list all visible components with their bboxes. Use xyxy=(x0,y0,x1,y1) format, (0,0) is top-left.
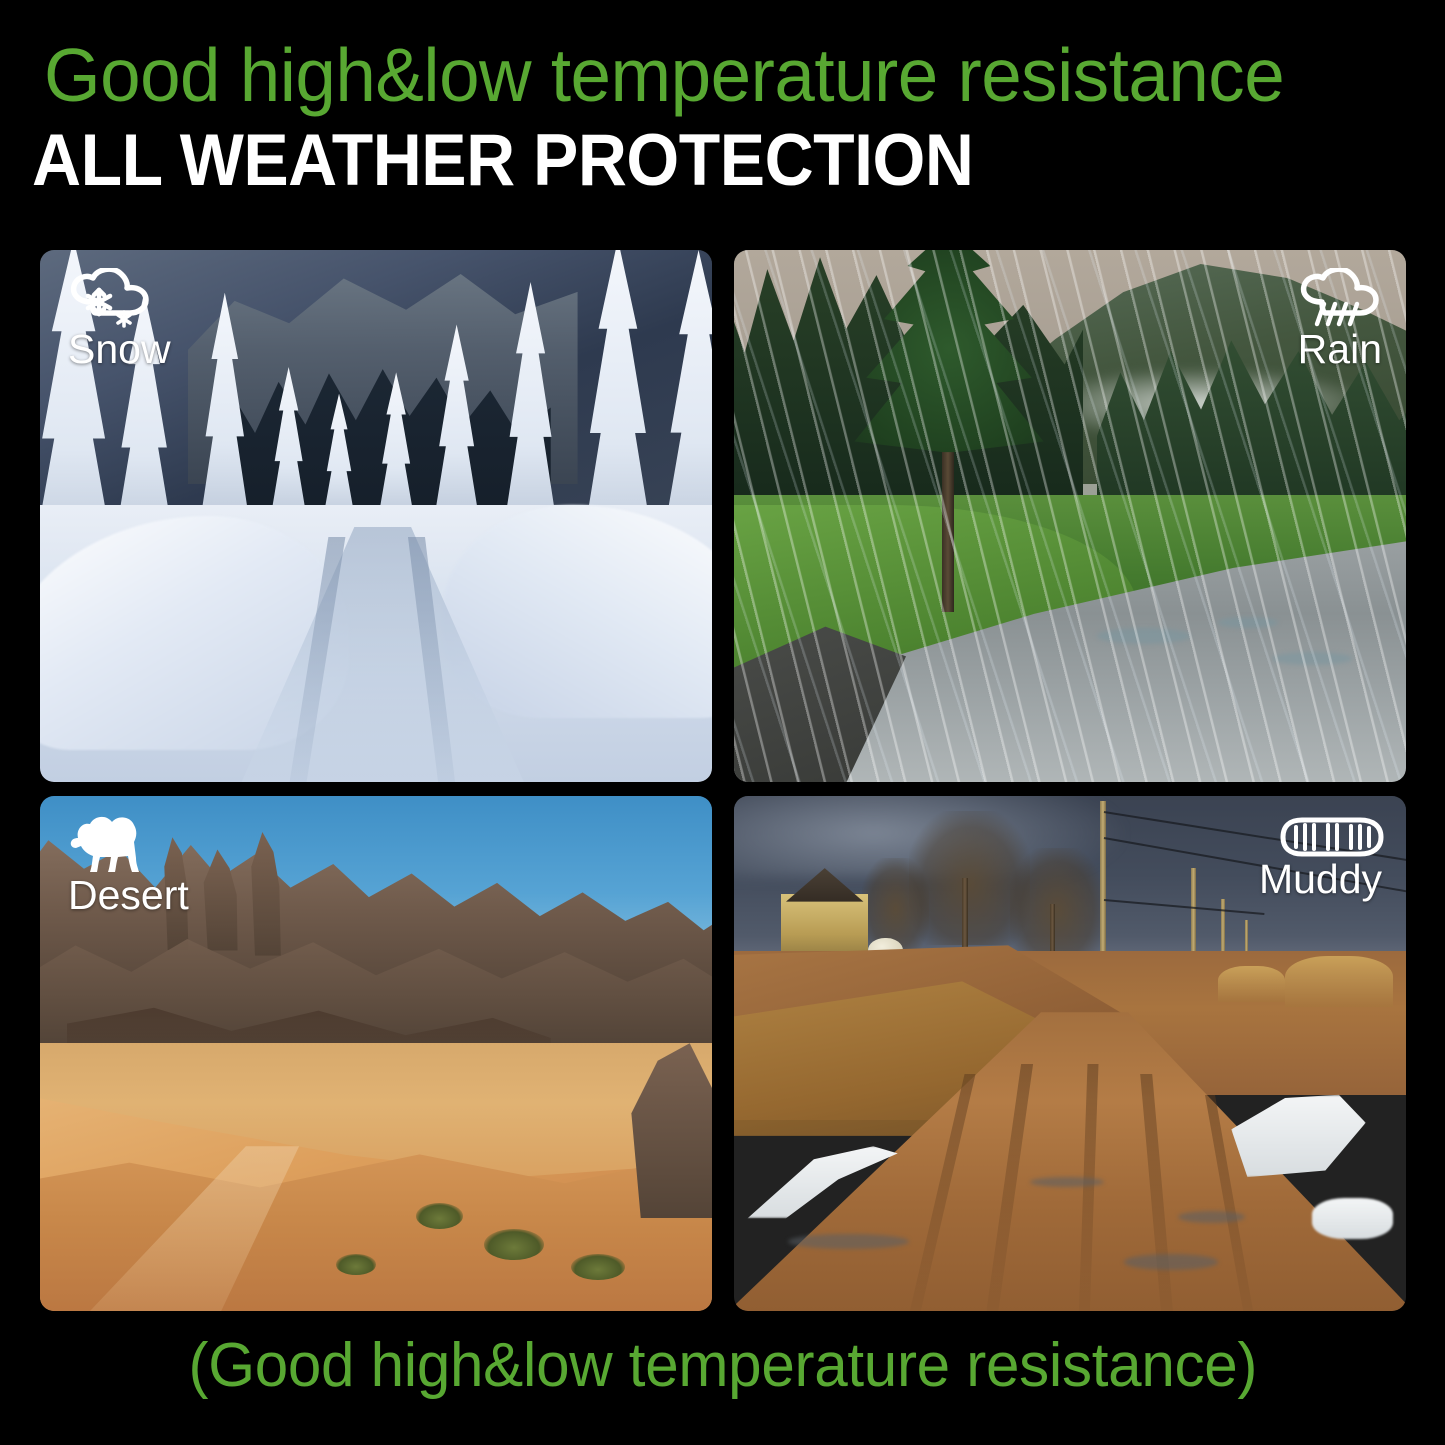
header: Good high&low temperature resistance ALL… xyxy=(0,0,1445,215)
desert-scene xyxy=(40,796,712,1311)
muddy-utility-pole xyxy=(1100,801,1106,971)
weather-panel-grid: Snow xyxy=(40,250,1406,1311)
headline-subtitle: Good high&low temperature resistance xyxy=(44,38,1284,113)
desert-bush xyxy=(336,1254,376,1275)
muddy-scene xyxy=(734,796,1406,1311)
muddy-snow-patch xyxy=(1312,1198,1393,1239)
panel-desert[interactable]: Desert xyxy=(40,796,712,1311)
panel-muddy[interactable]: Muddy xyxy=(734,796,1406,1311)
muddy-snow-patch xyxy=(1231,1095,1365,1177)
desert-bush xyxy=(416,1203,463,1229)
footer: (Good high&low temperature resistance) xyxy=(0,1335,1445,1397)
headline-title: ALL WEATHER PROTECTION xyxy=(32,124,973,197)
muddy-puddle xyxy=(788,1234,909,1249)
snow-bank-right xyxy=(443,505,712,718)
rain-streaks-overlay xyxy=(734,250,1406,782)
snow-scene xyxy=(40,250,712,782)
footer-caption: (Good high&low temperature resistance) xyxy=(188,1335,1257,1397)
muddy-bare-tree xyxy=(1010,848,1104,961)
muddy-dry-weeds xyxy=(1285,956,1393,1008)
panel-snow[interactable]: Snow xyxy=(40,250,712,782)
desert-bush xyxy=(571,1254,625,1280)
panel-rain[interactable]: Rain xyxy=(734,250,1406,782)
rain-scene xyxy=(734,250,1406,782)
muddy-bare-tree xyxy=(862,858,929,951)
muddy-puddle xyxy=(1124,1254,1218,1269)
muddy-dry-weeds xyxy=(1218,966,1285,1002)
desert-bush xyxy=(484,1229,544,1260)
